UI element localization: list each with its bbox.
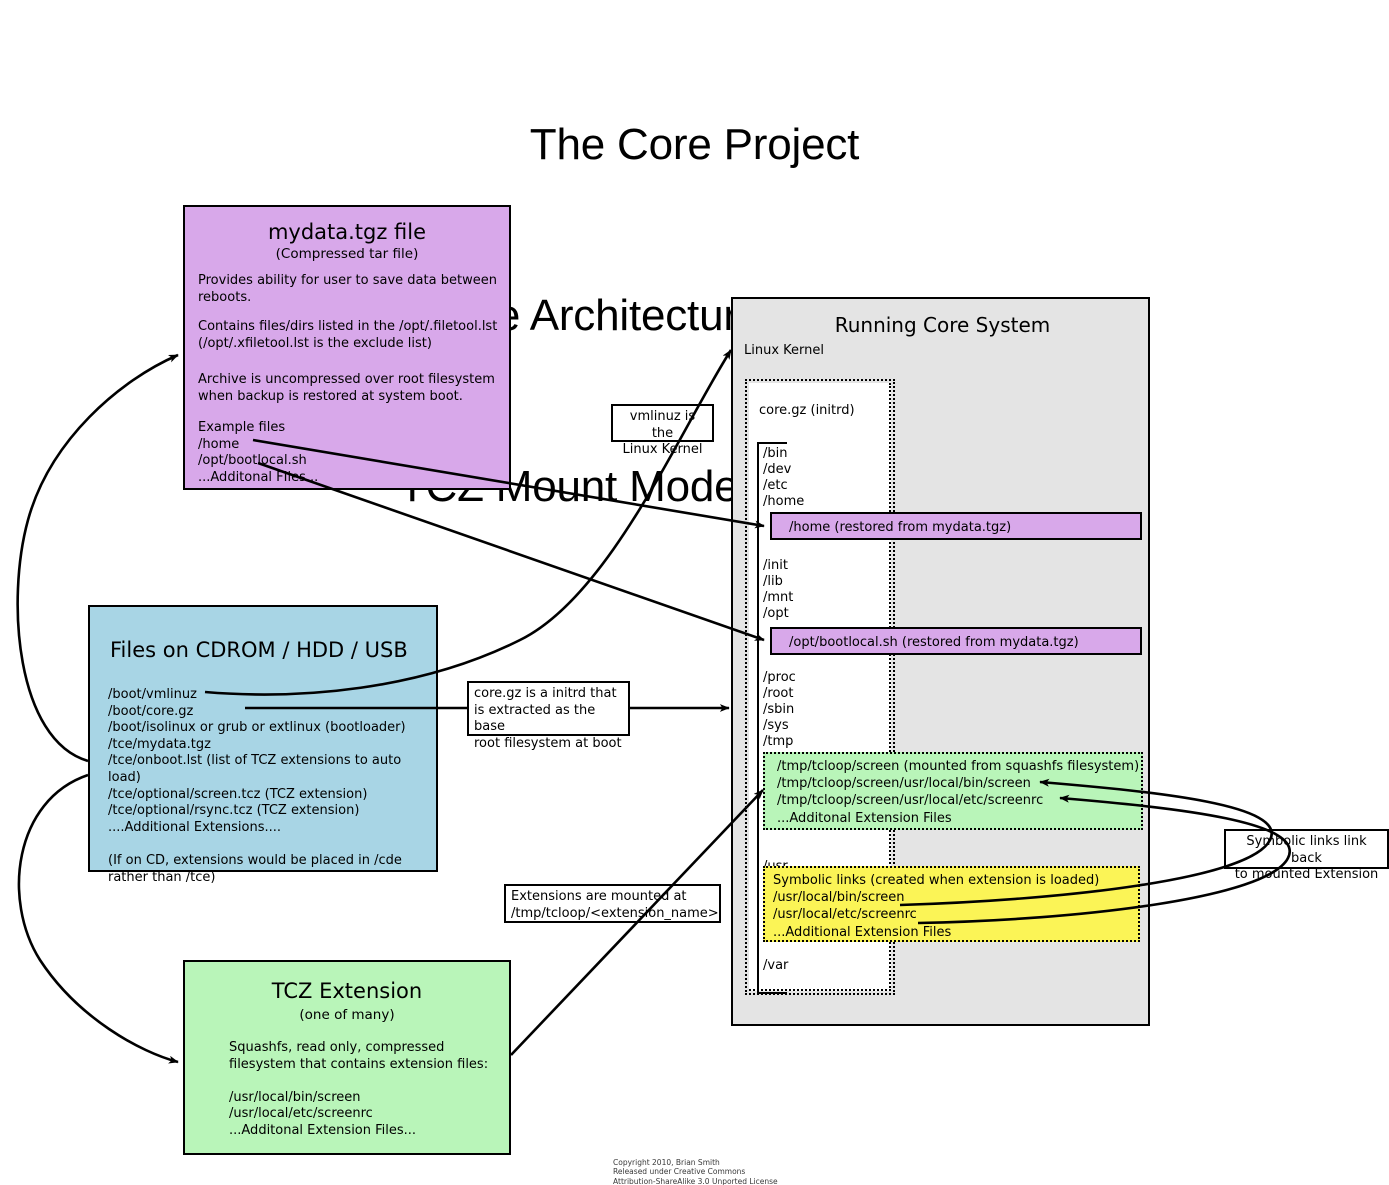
mydata-para-1: Provides ability for user to save data b… bbox=[198, 273, 499, 306]
core-system-title: Running Core System bbox=[733, 313, 1152, 337]
dir-group-proc-tmp: /proc /root /sbin /sys /tmp bbox=[763, 670, 796, 750]
files-box-title: Files on CDROM / HDD / USB bbox=[110, 637, 436, 663]
files-box-entries: /boot/vmlinuz /boot/core.gz /boot/isolin… bbox=[108, 687, 436, 886]
mydata-box-subtitle: (Compressed tar file) bbox=[185, 245, 509, 263]
callout-vmlinuz: vmlinuz is the Linux Kernel bbox=[611, 404, 714, 442]
callout-coregz: core.gz is a initrd that is extracted as… bbox=[467, 681, 630, 736]
mydata-box-title: mydata.tgz file bbox=[185, 219, 509, 245]
home-restored-strip: /home (restored from mydata.tgz) bbox=[770, 512, 1142, 540]
callout-extensions-mounted: Extensions are mounted at /tmp/tcloop/<e… bbox=[504, 884, 721, 923]
mydata-para-2: Contains files/dirs listed in the /opt/.… bbox=[198, 319, 499, 352]
tcz-box-subtitle: (one of many) bbox=[185, 1006, 509, 1024]
diagram-canvas: The Core Project File Architecture Diagr… bbox=[0, 0, 1389, 1185]
dir-group-init-opt: /init /lib /mnt /opt bbox=[763, 558, 793, 622]
copyright-notice: Copyright 2010, Brian Smith Released und… bbox=[613, 1158, 778, 1185]
files-on-media-box: Files on CDROM / HDD / USB /boot/vmlinuz… bbox=[88, 605, 438, 872]
bootlocal-restored-strip: /opt/bootlocal.sh (restored from mydata.… bbox=[770, 627, 1142, 655]
dir-group-var: /var bbox=[763, 958, 788, 974]
linux-kernel-label: Linux Kernel bbox=[744, 343, 824, 358]
mydata-tgz-box: mydata.tgz file (Compressed tar file) Pr… bbox=[183, 205, 511, 490]
tcz-box-body: Squashfs, read only, compressed filesyst… bbox=[229, 1040, 499, 1139]
symbolic-links-strip: Symbolic links (created when extension i… bbox=[763, 866, 1140, 942]
dir-group-bin-home: /bin /dev /etc /home bbox=[763, 446, 804, 510]
mydata-para-4: Example files /home /opt/bootlocal.sh ..… bbox=[198, 420, 499, 486]
tcz-extension-box: TCZ Extension (one of many) Squashfs, re… bbox=[183, 960, 511, 1155]
title-line-1: The Core Project bbox=[0, 116, 1389, 173]
mydata-para-3: Archive is uncompressed over root filesy… bbox=[198, 372, 499, 405]
tcz-box-title: TCZ Extension bbox=[185, 978, 509, 1004]
coregz-initrd-label: core.gz (initrd) bbox=[759, 403, 855, 418]
tcloop-mount-strip: /tmp/tcloop/screen (mounted from squashf… bbox=[763, 752, 1143, 830]
callout-symbolic-links: Symbolic links link back to mounted Exte… bbox=[1224, 829, 1389, 869]
